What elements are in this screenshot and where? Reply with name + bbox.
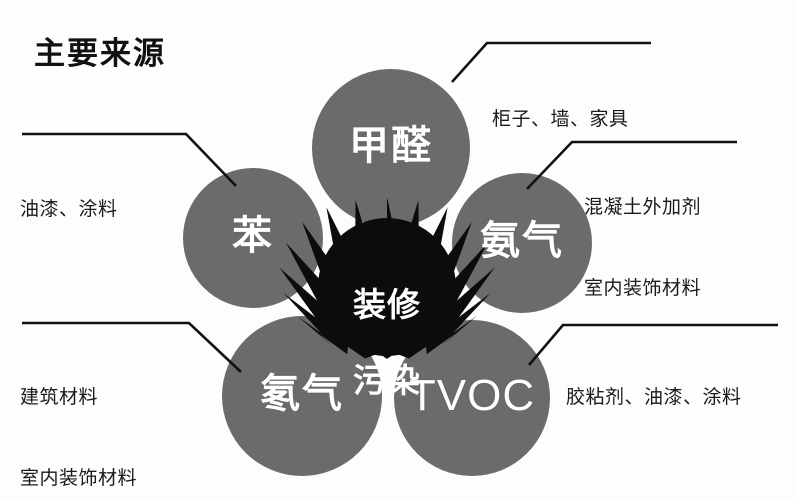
callout-label-benzene: 油漆、涂料 xyxy=(20,142,118,277)
node-circle-benzene[interactable] xyxy=(183,168,323,308)
callout-line: 室内装饰材料 xyxy=(584,275,701,302)
page-title: 主要来源 xyxy=(34,28,166,73)
callout-line: 胶粘剂、油漆、涂料 xyxy=(566,384,742,411)
callout-line: 建筑材料 xyxy=(20,384,137,411)
diagram-canvas: 主要来源 甲醛 苯 氨气 氡气 TVOC 装修 污染 油漆、涂料 柜子、墙、家具… xyxy=(0,0,795,500)
callout-label-tvoc: 胶粘剂、油漆、涂料 xyxy=(566,330,742,465)
callout-label-radon: 建筑材料 室内装饰材料 xyxy=(20,330,137,500)
callout-line: 室内装饰材料 xyxy=(20,465,137,492)
node-circle-formaldehyde[interactable] xyxy=(312,69,470,227)
callout-line: 油漆、涂料 xyxy=(20,196,118,223)
callout-label-ammonia: 混凝土外加剂 室内装饰材料 xyxy=(584,140,701,356)
center-circle[interactable] xyxy=(318,218,456,356)
callout-line: 混凝土外加剂 xyxy=(584,194,701,221)
callout-line: 柜子、墙、家具 xyxy=(492,106,629,133)
